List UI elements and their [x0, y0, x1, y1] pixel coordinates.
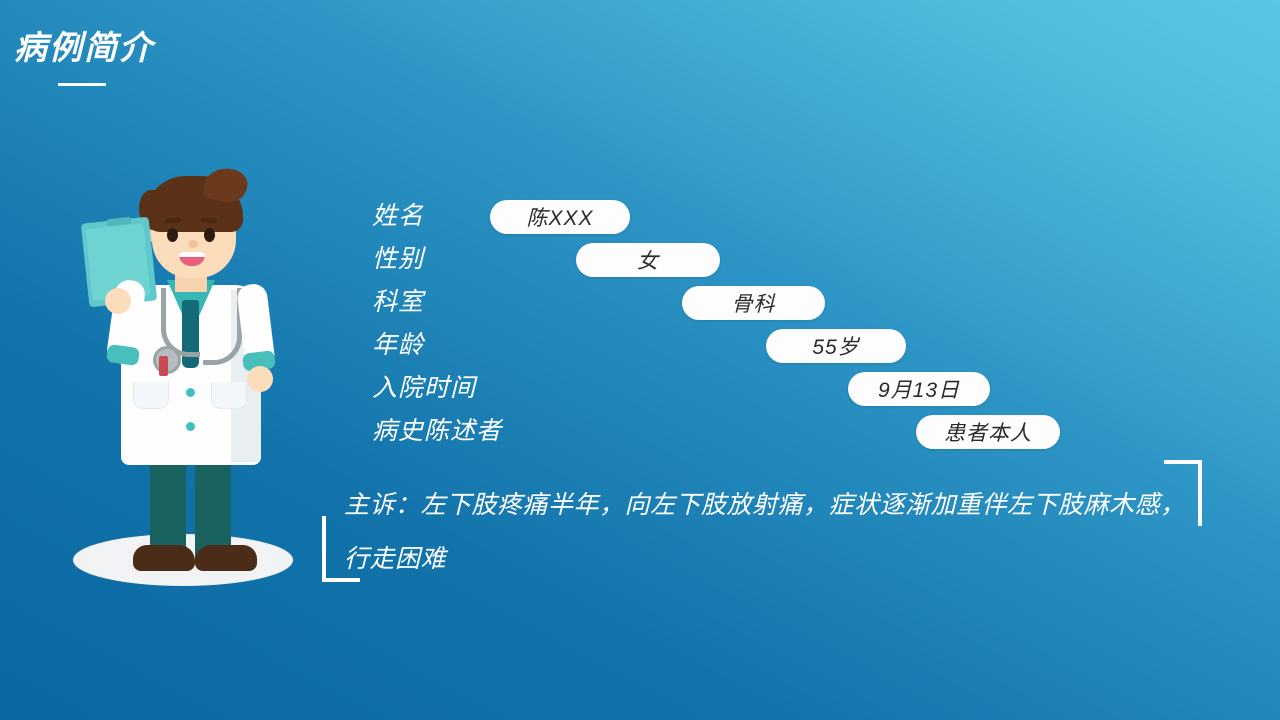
info-label-name: 姓名: [372, 196, 424, 236]
stethoscope-tube-right: [203, 288, 242, 365]
doctor-shoe-right: [195, 545, 257, 571]
doctor-eye-right: [204, 228, 215, 242]
info-pill-gender: 女: [576, 243, 720, 277]
info-row-department: 科室 骨科: [372, 282, 1132, 325]
info-value-department: 骨科: [732, 288, 776, 318]
info-value-gender: 女: [637, 245, 659, 275]
info-pill-name: 陈XXX: [490, 200, 630, 234]
info-value-historian: 患者本人: [944, 417, 1032, 447]
patient-info-list: 姓名 陈XXX 性别 女 科室 骨科 年龄 55岁 入院时间: [372, 196, 1132, 454]
doctor-hand-right: [247, 366, 273, 392]
info-pill-department: 骨科: [682, 286, 825, 320]
info-label-admission-date: 入院时间: [372, 368, 476, 408]
title-block: 病例简介: [14, 26, 374, 96]
doctor-teeth: [179, 252, 205, 257]
chief-complaint-text: 主诉：左下肢疼痛半年，向左下肢放射痛，症状逐渐加重伴左下肢麻木感，行走困难: [344, 478, 1202, 586]
info-label-age: 年龄: [372, 325, 424, 365]
info-label-gender: 性别: [372, 239, 424, 279]
info-pill-age: 55岁: [766, 329, 906, 363]
info-pill-historian: 患者本人: [916, 415, 1060, 449]
info-row-historian: 病史陈述者 患者本人: [372, 411, 1132, 454]
info-label-department: 科室: [372, 282, 424, 322]
info-value-age: 55岁: [812, 331, 859, 361]
doctor-nose: [188, 240, 198, 248]
info-label-historian: 病史陈述者: [372, 411, 502, 451]
doctor-eye-left: [167, 228, 178, 242]
page-title: 病例简介: [14, 26, 374, 70]
info-row-gender: 性别 女: [372, 239, 1132, 282]
doctor-hand-left: [105, 288, 131, 314]
doctor-cuff-left: [106, 344, 140, 366]
doctor-illustration: [55, 160, 315, 620]
coat-button-top: [186, 388, 195, 397]
info-row-name: 姓名 陈XXX: [372, 196, 1132, 239]
pocket-pen-icon: [159, 356, 168, 376]
title-underline-rule: [58, 83, 106, 86]
chief-complaint-block: 主诉：左下肢疼痛半年，向左下肢放射痛，症状逐渐加重伴左下肢麻木感，行走困难: [322, 460, 1202, 582]
doctor-shoe-left: [133, 545, 195, 571]
doctor-pocket-left: [133, 382, 169, 409]
info-pill-admission-date: 9月13日: [848, 372, 990, 406]
coat-button-bottom: [186, 422, 195, 431]
info-row-admission-date: 入院时间 9月13日: [372, 368, 1132, 411]
doctor-pocket-right: [211, 382, 247, 409]
info-value-name: 陈XXX: [526, 202, 593, 232]
slide-canvas: 病例简介: [0, 0, 1280, 720]
info-row-age: 年龄 55岁: [372, 325, 1132, 368]
info-value-admission-date: 9月13日: [878, 374, 960, 404]
